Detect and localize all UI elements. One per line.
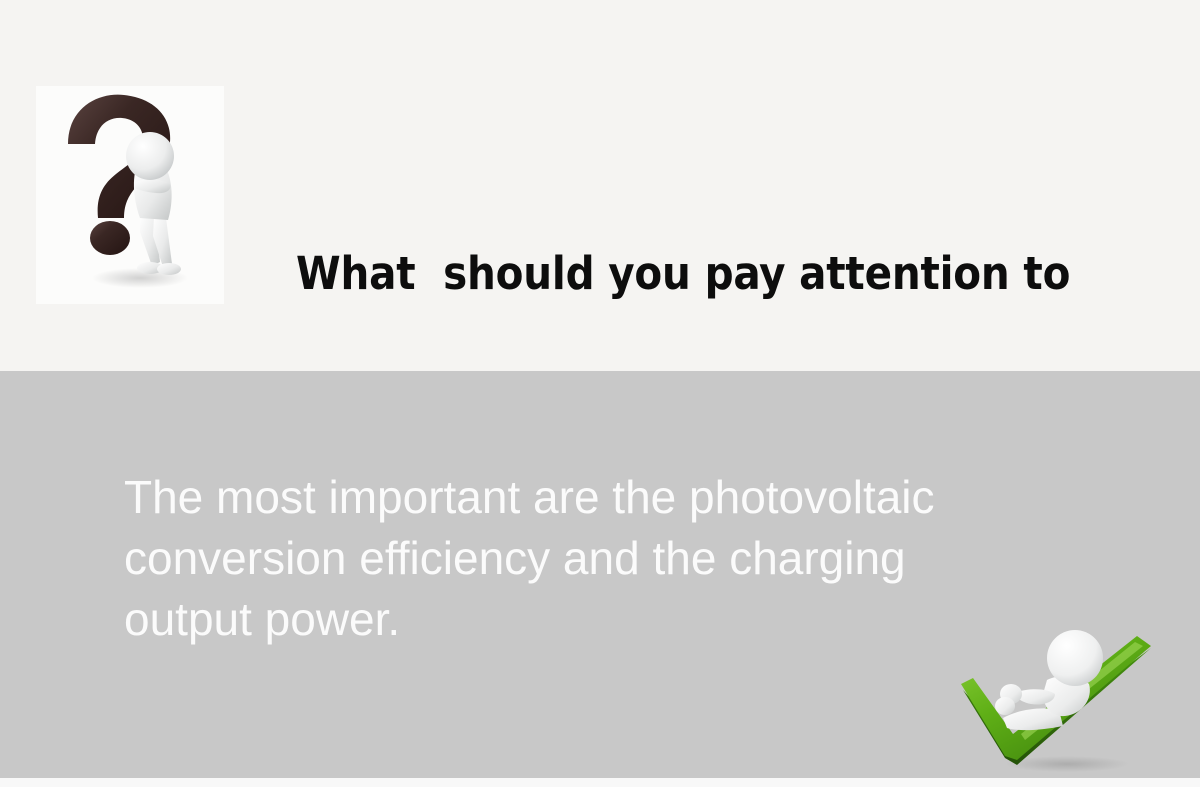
question-illustration-card	[36, 86, 224, 304]
answer-text: The most important are the photovoltaic …	[124, 467, 1084, 650]
green-checkmark-3d-figure-icon	[955, 618, 1160, 773]
question-panel: What should you pay attention to when ch…	[0, 0, 1200, 371]
answer-line-2: conversion efficiency and the charging	[124, 528, 1084, 589]
slide-root: What should you pay attention to when ch…	[0, 0, 1200, 787]
question-mark-3d-figure-icon	[36, 86, 224, 304]
answer-line-1: The most important are the photovoltaic	[124, 467, 1084, 528]
question-line-1: What should you pay attention to	[296, 242, 1076, 305]
answer-line-3: output power.	[124, 589, 1084, 650]
footer-strip	[0, 778, 1200, 787]
